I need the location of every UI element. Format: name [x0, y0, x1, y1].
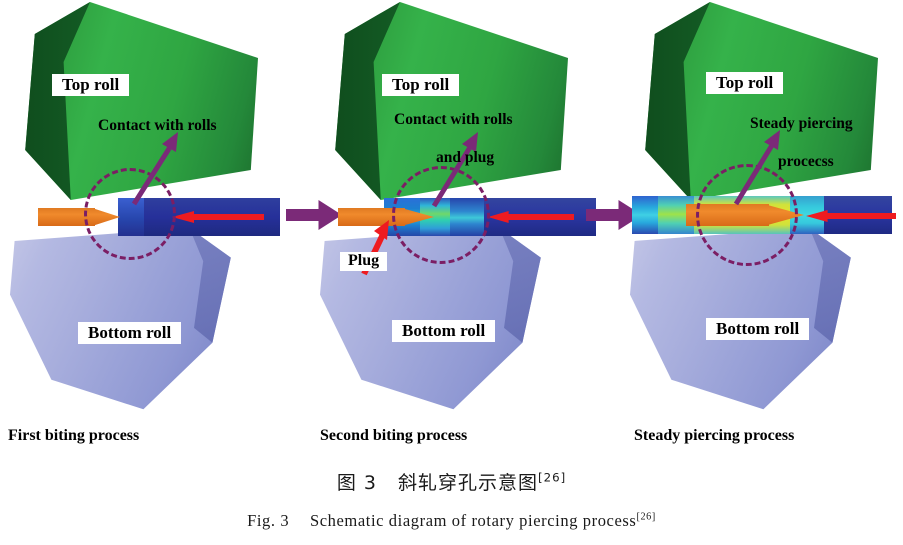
- annotation-line-1: Contact with rolls: [394, 112, 513, 128]
- caption-cn-reference: [26]: [538, 471, 566, 485]
- caption-en-reference: [26]: [636, 512, 655, 523]
- caption-chinese: 图 3 斜轧穿孔示意图[26]: [0, 462, 903, 495]
- feed-arrow-tail: [826, 213, 896, 219]
- top-roll-label: Top roll: [52, 74, 129, 96]
- stage-label: First biting process: [8, 428, 139, 445]
- figure-area: Top roll Contact with rolls Bottom roll …: [0, 0, 903, 460]
- annotation-line-1: Contact with rolls: [98, 118, 217, 134]
- caption-cn-number: 图 3: [337, 472, 377, 494]
- feed-direction-arrow: [172, 211, 264, 223]
- bottom-roll-label: Bottom roll: [392, 320, 495, 342]
- bottom-roll-label: Bottom roll: [706, 318, 809, 340]
- stage-label: Steady piercing process: [634, 428, 794, 445]
- stage-label: Second biting process: [320, 428, 467, 445]
- feed-arrow-head: [488, 211, 509, 223]
- annotation-line-1: Steady piercing: [750, 116, 853, 132]
- contact-leader-arrow: [126, 126, 192, 208]
- feed-arrow-tail: [192, 214, 264, 220]
- transition-arrow-tail: [586, 209, 621, 221]
- panel-second-biting: Plug Top roll Contact with rolls and plu…: [310, 0, 600, 460]
- top-roll-label: Top roll: [706, 72, 783, 94]
- billet-exit-zone: [632, 196, 658, 234]
- caption-en-number: Fig. 3: [247, 511, 289, 530]
- caption-english: Fig. 3 Schematic diagram of rotary pierc…: [0, 495, 903, 531]
- panel-steady-piercing: Top roll Steady piercing procecss Bottom…: [620, 0, 903, 460]
- figure-captions: 图 3 斜轧穿孔示意图[26] Fig. 3 Schematic diagram…: [0, 462, 903, 545]
- plug-callout-label: Plug: [340, 252, 387, 271]
- panel-first-biting: Top roll Contact with rolls Bottom roll …: [0, 0, 290, 460]
- annotation-line-2: and plug: [436, 150, 494, 166]
- top-roll-label: Top roll: [382, 74, 459, 96]
- bottom-roll-label: Bottom roll: [78, 322, 181, 344]
- caption-cn-title: 斜轧穿孔示意图: [398, 472, 538, 494]
- feed-arrow-tail: [507, 214, 574, 220]
- feed-direction-arrow: [488, 211, 574, 223]
- feed-arrow-head: [806, 210, 828, 222]
- feed-direction-arrow: [806, 210, 896, 222]
- annotation-line-2: procecss: [778, 154, 834, 170]
- caption-en-title: Schematic diagram of rotary piercing pro…: [310, 511, 637, 530]
- contact-leader-arrow: [428, 124, 498, 210]
